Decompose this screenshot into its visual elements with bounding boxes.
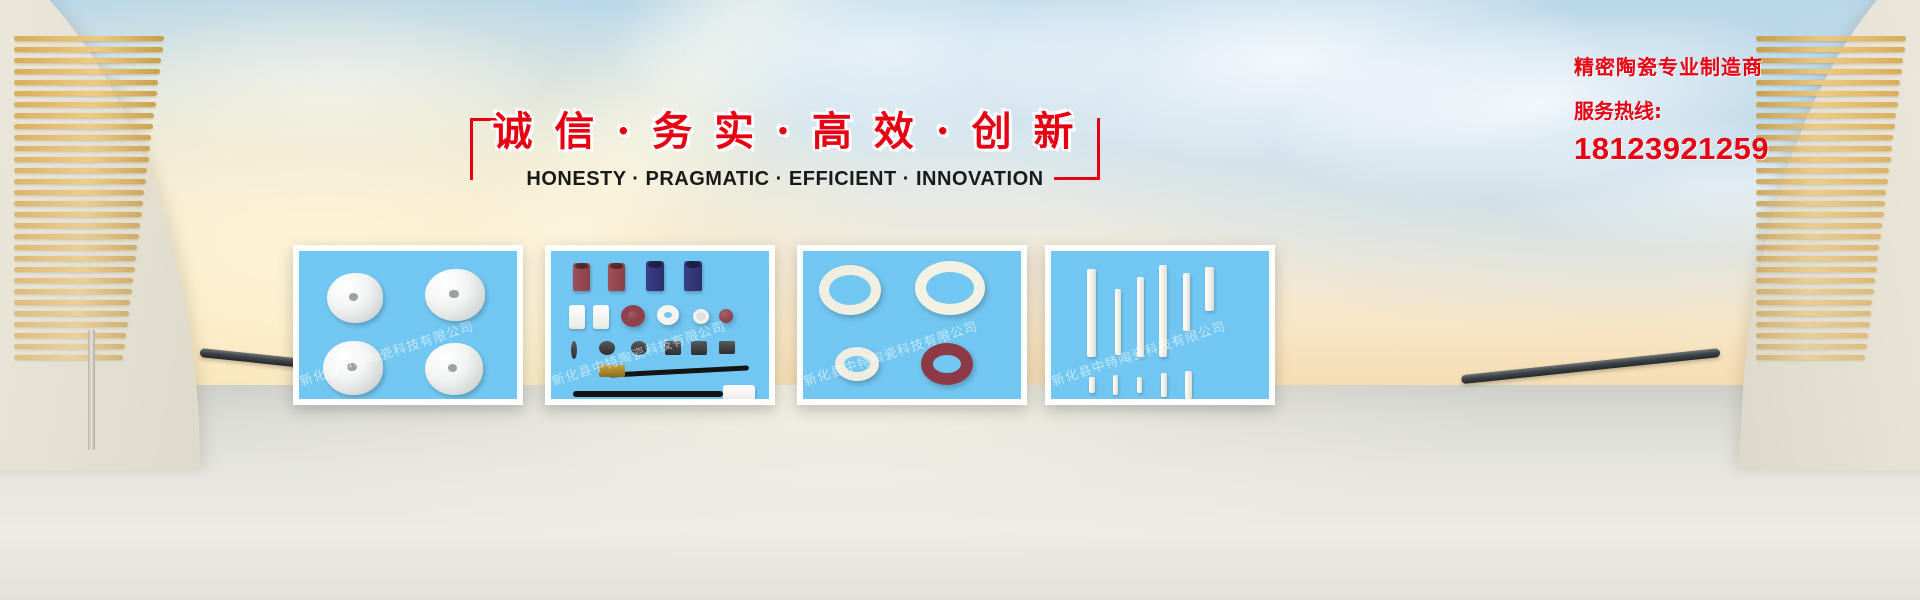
product-item: [1159, 265, 1167, 357]
product-item: [1183, 273, 1190, 331]
product-item: [608, 263, 625, 291]
product-item: [593, 305, 609, 329]
product-item: [1113, 375, 1118, 395]
louver-slat: [14, 69, 160, 74]
floor-glare: [0, 385, 1920, 600]
slogan-chinese: 诚 信 · 务 实 · 高 效 · 创 新: [470, 104, 1100, 160]
louver-slat: [14, 300, 130, 305]
louver-slat: [14, 256, 136, 261]
louver-slat: [14, 212, 142, 217]
product-item: [665, 341, 681, 355]
panel-photo: 新化县中特陶瓷科技有限公司: [1051, 251, 1269, 399]
louver-slat: [14, 124, 153, 129]
louver-slat: [14, 289, 132, 294]
louver-slat: [14, 267, 135, 272]
product-panel-ceramic-components[interactable]: 新化县中特陶瓷科技有限公司: [545, 245, 775, 405]
hotline-phone-number[interactable]: 18123921259: [1574, 130, 1824, 168]
louver-slat: [14, 102, 156, 107]
louver-slat: [14, 135, 151, 140]
product-item: [719, 341, 735, 354]
golden-louvers-left: [14, 36, 164, 366]
louver-slat: [14, 146, 150, 151]
product-item: [1087, 269, 1096, 357]
product-item: [573, 391, 723, 397]
product-item: [691, 341, 707, 355]
louver-slat: [14, 36, 164, 41]
product-item: [327, 273, 383, 323]
louver-slat: [14, 311, 129, 316]
product-item: [599, 341, 615, 355]
promotional-banner: 诚 信 · 务 实 · 高 效 · 创 新 HONESTY · PRAGMATI…: [0, 0, 1920, 600]
panel-photo: 新化县中特陶瓷科技有限公司: [299, 251, 517, 399]
louver-slat: [1756, 355, 1865, 360]
product-item: [835, 347, 879, 381]
company-tagline: 精密陶瓷专业制造商: [1574, 52, 1824, 82]
louver-slat: [14, 179, 146, 184]
product-item: [693, 309, 709, 324]
louver-slat: [1756, 223, 1882, 228]
louver-slat: [14, 80, 158, 85]
product-item: [569, 305, 585, 329]
product-item: [1137, 377, 1142, 393]
louver-slat: [1756, 201, 1885, 206]
louver-slat: [1756, 300, 1872, 305]
product-item: [819, 265, 881, 315]
louver-slat: [14, 344, 125, 349]
slogan-block: 诚 信 · 务 实 · 高 效 · 创 新 HONESTY · PRAGMATI…: [470, 104, 1100, 204]
louver-slat: [14, 245, 137, 250]
product-item: [719, 309, 733, 323]
product-item: [1089, 377, 1095, 393]
slogan-english: HONESTY · PRAGMATIC · EFFICIENT · INNOVA…: [470, 164, 1100, 194]
product-item: [1205, 267, 1214, 311]
louver-slat: [14, 223, 140, 228]
product-panel-ceramic-lamp-holders[interactable]: 新化县中特陶瓷科技有限公司: [293, 245, 523, 405]
product-item: [684, 261, 702, 291]
product-item: [425, 343, 483, 395]
louver-slat: [1756, 311, 1871, 316]
louver-slat: [1756, 36, 1906, 41]
louver-slat: [1756, 212, 1884, 217]
louver-slat: [1756, 256, 1878, 261]
product-item: [646, 261, 664, 291]
product-item: [921, 343, 973, 385]
louver-slat: [1756, 344, 1867, 349]
louver-slat: [14, 157, 149, 162]
louver-slat: [1756, 278, 1875, 283]
hotline-label: 服务热线:: [1574, 92, 1824, 130]
product-item: [915, 261, 985, 315]
louver-slat: [14, 91, 157, 96]
louver-slat: [1756, 322, 1870, 327]
louver-slat: [14, 58, 161, 63]
product-item: [1185, 371, 1192, 399]
product-item: [621, 305, 645, 327]
louver-slat: [1756, 190, 1886, 195]
louver-slat: [14, 234, 139, 239]
louver-slat: [14, 278, 133, 283]
louver-slat: [14, 113, 154, 118]
product-item: [1137, 277, 1144, 357]
panel-photo: 新化县中特陶瓷科技有限公司: [551, 251, 769, 399]
product-item: [609, 365, 749, 377]
panel-photo: 新化县中特陶瓷科技有限公司: [803, 251, 1021, 399]
product-item: [723, 385, 755, 399]
louver-slat: [1756, 245, 1879, 250]
product-item: [1161, 373, 1167, 397]
contact-block: 精密陶瓷专业制造商 服务热线: 18123921259: [1574, 52, 1824, 168]
louver-slat: [14, 47, 163, 52]
support-post-left: [88, 330, 95, 450]
louver-slat: [14, 322, 128, 327]
product-item: [323, 341, 383, 395]
louver-slat: [1756, 234, 1881, 239]
architecture-left: [0, 0, 190, 470]
product-item: [1115, 289, 1121, 355]
louver-slat: [1756, 267, 1877, 272]
louver-slat: [1756, 179, 1888, 184]
product-item: [631, 341, 647, 355]
product-panel-ceramic-rings[interactable]: 新化县中特陶瓷科技有限公司: [797, 245, 1027, 405]
louver-slat: [1756, 333, 1868, 338]
product-item: [573, 263, 590, 291]
louver-slat: [1756, 289, 1874, 294]
louver-slat: [14, 190, 144, 195]
product-panel-ceramic-rods[interactable]: 新化县中特陶瓷科技有限公司: [1045, 245, 1275, 405]
louver-slat: [14, 355, 123, 360]
plaza-floor: [0, 385, 1920, 600]
louver-slat: [1756, 168, 1889, 173]
louver-slat: [14, 201, 143, 206]
product-item: [571, 341, 577, 359]
product-item: [657, 305, 679, 325]
louver-slat: [14, 168, 147, 173]
product-item: [599, 365, 625, 377]
louver-slat: [14, 333, 126, 338]
product-item: [425, 269, 485, 321]
